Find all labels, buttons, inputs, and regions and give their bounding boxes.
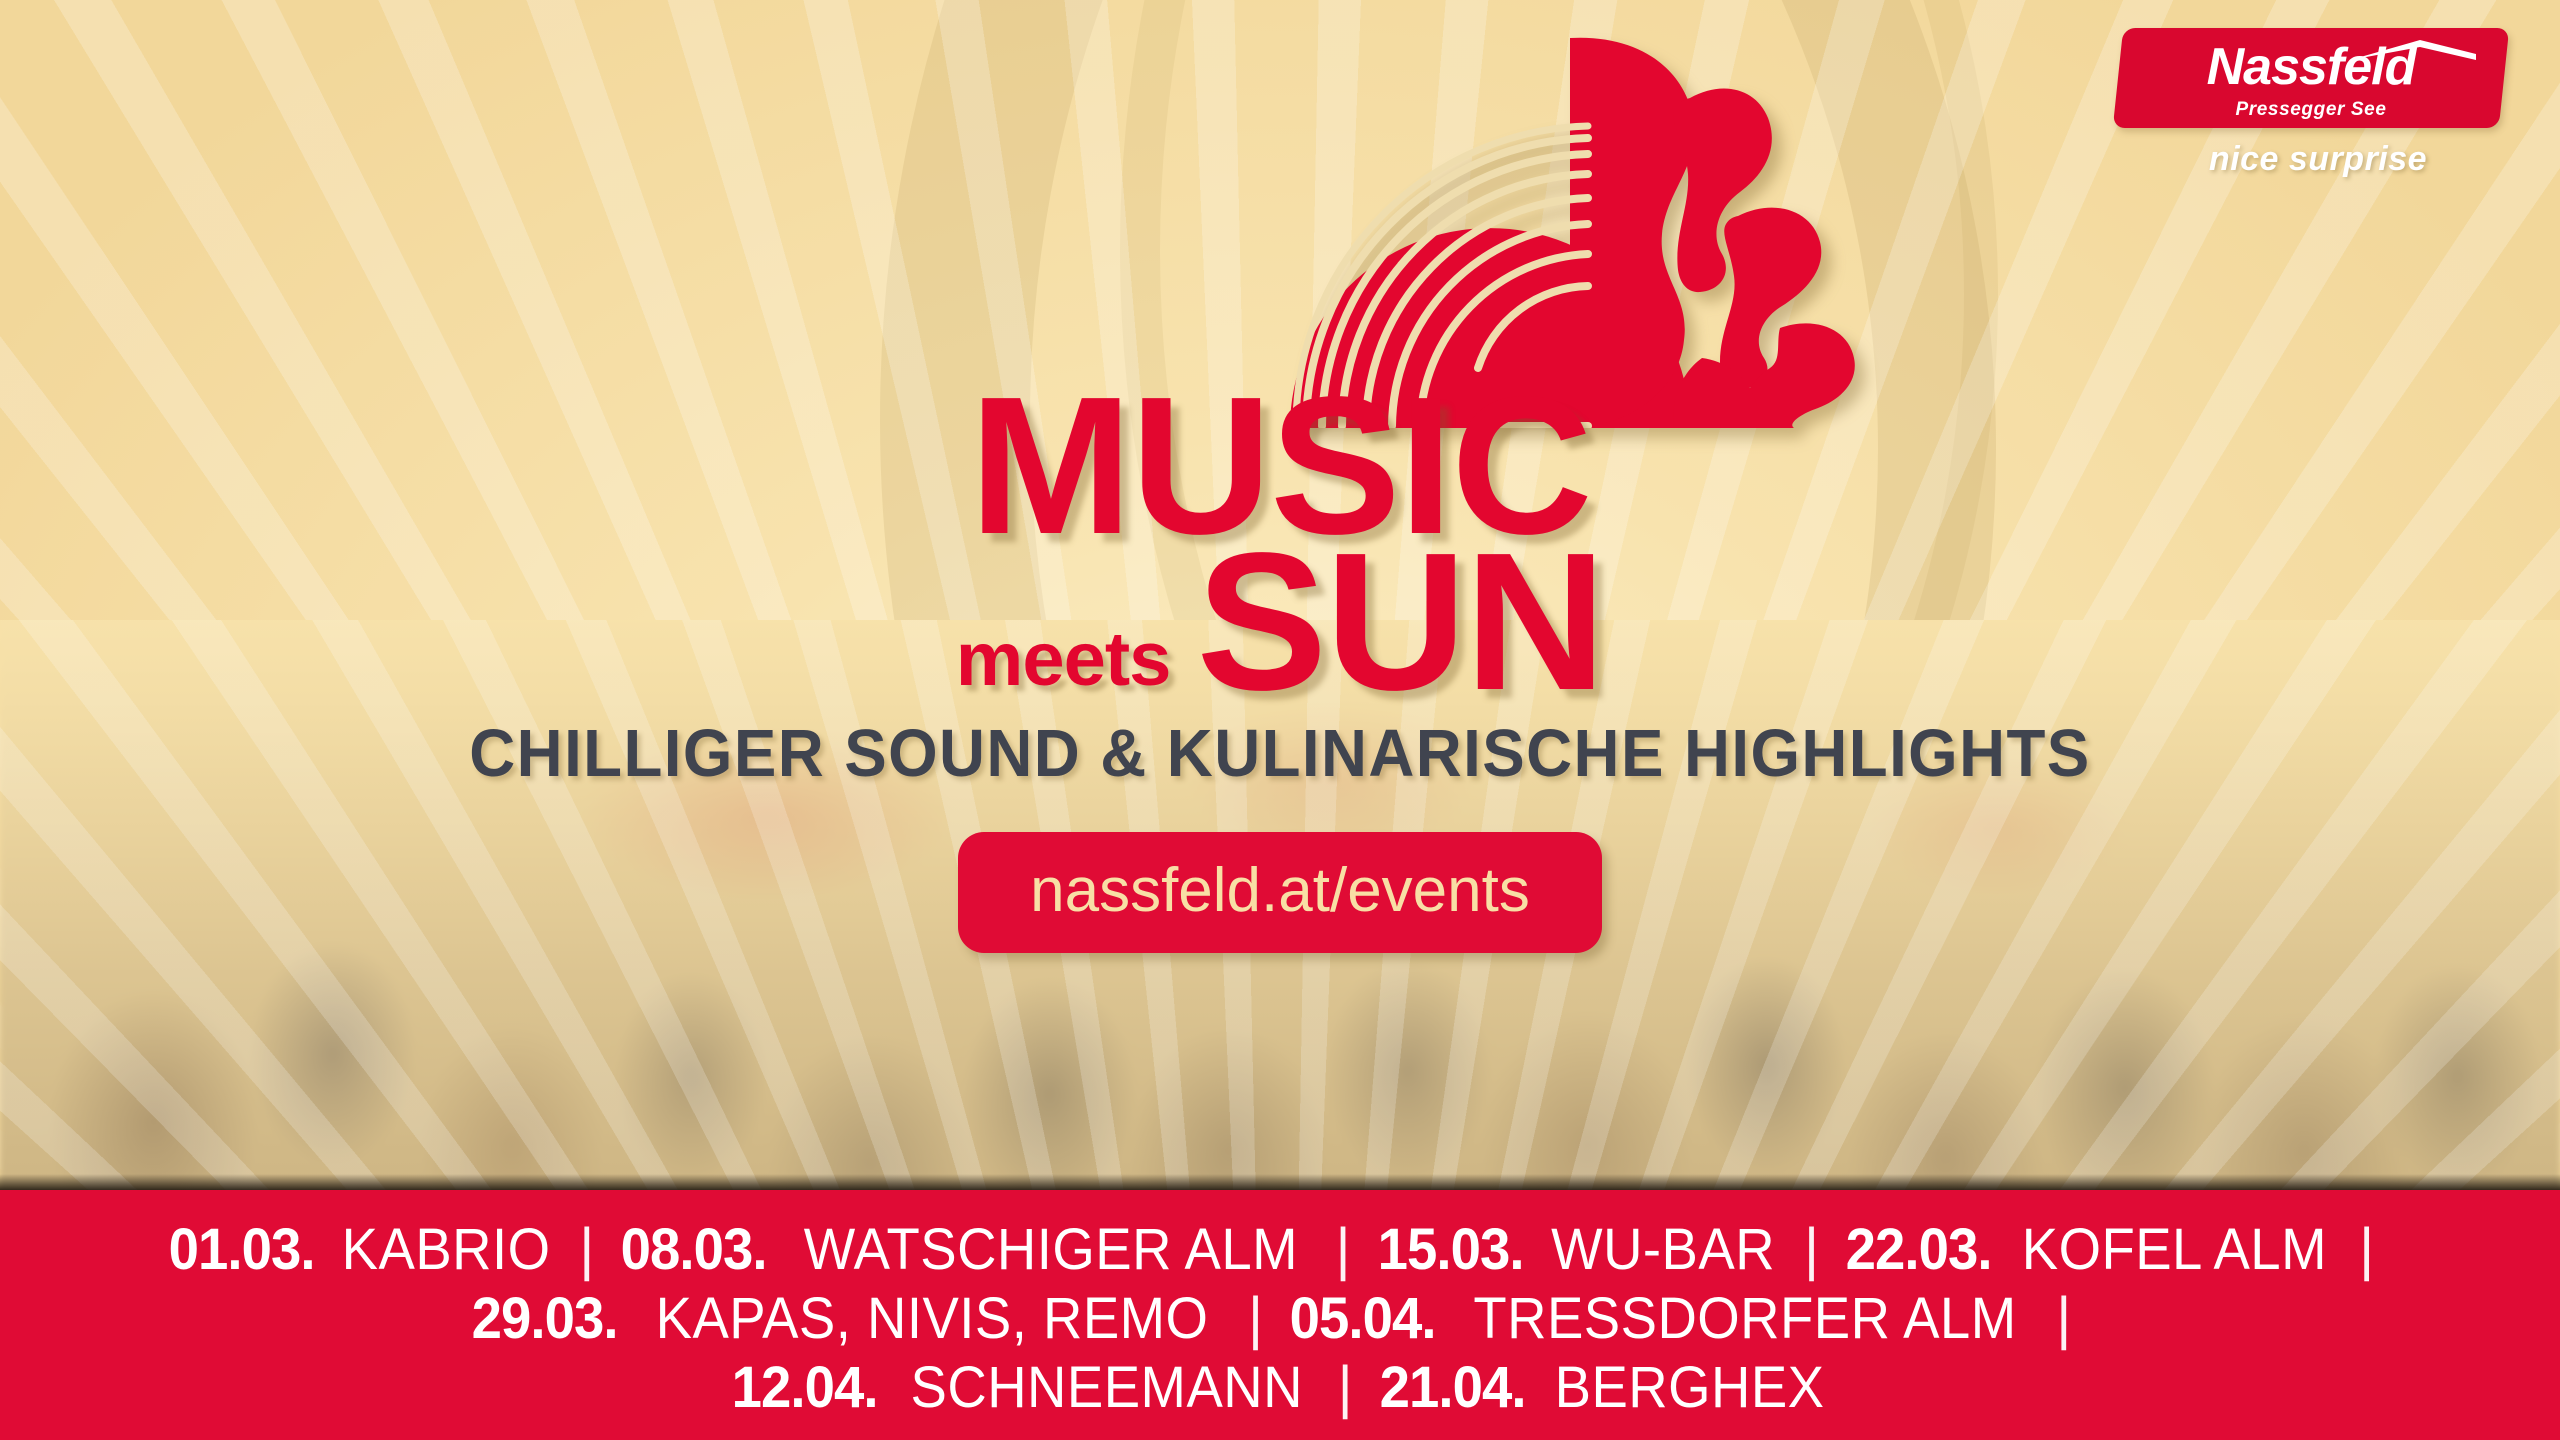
schedule-event-date: 01.03. xyxy=(169,1216,315,1283)
schedule-separator: | xyxy=(1248,1285,1263,1352)
cta-container: nassfeld.at/events xyxy=(0,832,2560,953)
nassfeld-tagline: nice surprise xyxy=(2118,140,2518,179)
poster-subtitle: CHILLIGER SOUND & KULINARISCHE HIGHLIGHT… xyxy=(64,715,2496,792)
schedule-event-venue: WATSCHIGER ALM xyxy=(803,1216,1297,1283)
events-url-button[interactable]: nassfeld.at/events xyxy=(958,832,1602,953)
event-poster: MUSIC meets SUN CHILLIGER SOUND & KULINA… xyxy=(0,0,2560,1440)
nassfeld-brand-block[interactable]: Nassfeld Pressegger See nice surprise xyxy=(2118,28,2518,179)
schedule-event: 05.04.TRESSDORFER ALM xyxy=(1285,1285,2034,1352)
schedule-separator: | xyxy=(2359,1216,2374,1283)
schedule-event-date: 05.04. xyxy=(1290,1285,1436,1352)
vinyl-sun-logo-icon xyxy=(1270,28,1930,428)
schedule-separator: | xyxy=(2056,1285,2071,1352)
schedule-event: 12.04.SCHNEEMANN xyxy=(727,1354,1316,1421)
schedule-event-date: 12.04. xyxy=(732,1354,878,1421)
schedule-separator: | xyxy=(1804,1216,1819,1283)
schedule-event-date: 29.03. xyxy=(471,1285,617,1352)
schedule-event: 15.03.WU-BAR xyxy=(1373,1216,1782,1283)
schedule-event: 01.03.KABRIO xyxy=(164,1216,557,1283)
schedule-event-venue: KABRIO xyxy=(342,1216,551,1283)
schedule-line: 01.03.KABRIO|08.03.WATSCHIGER ALM|15.03.… xyxy=(164,1216,2396,1283)
schedule-line: 12.04.SCHNEEMANN|21.04.BERGHEX xyxy=(727,1354,1833,1421)
schedule-event-venue: SCHNEEMANN xyxy=(911,1354,1303,1421)
schedule-bar: 01.03.KABRIO|08.03.WATSCHIGER ALM|15.03.… xyxy=(0,1190,2560,1440)
schedule-event-venue: KOFEL ALM xyxy=(2022,1216,2327,1283)
nassfeld-logo-badge[interactable]: Nassfeld Pressegger See xyxy=(2113,28,2510,128)
schedule-event: 22.03.KOFEL ALM xyxy=(1841,1216,2337,1283)
schedule-separator: | xyxy=(1338,1354,1353,1421)
schedule-event-venue: WU-BAR xyxy=(1551,1216,1775,1283)
schedule-event-date: 08.03. xyxy=(621,1216,767,1283)
schedule-line: 29.03.KAPAS, NIVIS, REMO|05.04.TRESSDORF… xyxy=(467,1285,2094,1352)
schedule-event-date: 15.03. xyxy=(1377,1216,1523,1283)
schedule-event-venue: BERGHEX xyxy=(1555,1354,1825,1421)
schedule-separator: | xyxy=(1335,1216,1350,1283)
schedule-event: 21.04.BERGHEX xyxy=(1375,1354,1833,1421)
schedule-event: 29.03.KAPAS, NIVIS, REMO xyxy=(467,1285,1226,1352)
crowd-photo-bottom-edge xyxy=(0,1174,2560,1190)
schedule-event-date: 21.04. xyxy=(1379,1354,1525,1421)
schedule-event-venue: TRESSDORFER ALM xyxy=(1474,1285,2017,1352)
schedule-event: 08.03.WATSCHIGER ALM xyxy=(616,1216,1313,1283)
mountain-roof-icon xyxy=(2348,38,2478,60)
schedule-event-venue: KAPAS, NIVIS, REMO xyxy=(656,1285,1209,1352)
nassfeld-logo-region: Pressegger See xyxy=(2236,100,2387,119)
schedule-event-date: 22.03. xyxy=(1846,1216,1992,1283)
schedule-separator: | xyxy=(579,1216,594,1283)
